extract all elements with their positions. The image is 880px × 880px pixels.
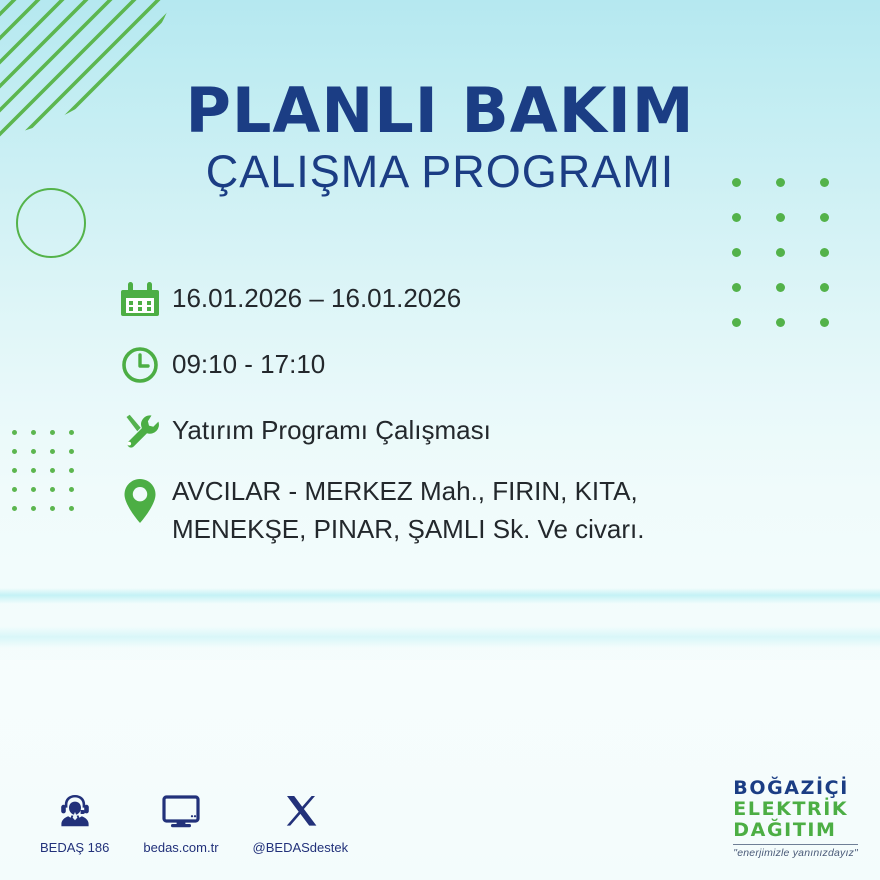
footer-label-call-center: BEDAŞ 186 [40,840,109,855]
x-twitter-icon [278,786,322,834]
logo-line-elektrik: ELEKTRİK [733,799,858,820]
work-type-text: Yatırım Programı Çalışması [172,404,491,450]
footer-item-website[interactable]: bedas.com.tr [143,786,218,855]
tools-icon [118,404,172,458]
planned-maintenance-poster: PLANLI BAKIM ÇALIŞMA PROGRAMI [0,0,880,880]
logo-line-dagitim: DAĞITIM [733,820,858,841]
info-row-address: AVCILAR - MERKEZ Mah., FIRIN, KITA, MENE… [118,470,818,548]
poster-header: PLANLI BAKIM ÇALIŞMA PROGRAMI [0,78,880,197]
monitor-icon [159,786,203,834]
page-subtitle: ÇALIŞMA PROGRAMI [0,147,880,197]
logo-tagline: "enerjimizle yanınızdayız" [733,844,858,859]
support-headset-icon [53,786,97,834]
page-title: PLANLI BAKIM [0,78,880,143]
wave-band-upper [0,588,880,604]
footer-label-x-account: @BEDASdestek [253,840,349,855]
wave-band-lower [0,626,880,648]
dot-grid-left-decoration [12,430,88,525]
address-text: AVCILAR - MERKEZ Mah., FIRIN, KITA, MENE… [172,470,644,548]
calendar-icon [118,272,172,326]
info-row-time: 09:10 - 17:10 [118,338,818,392]
logo-line-bogazici: BOĞAZİÇİ [733,778,858,799]
maintenance-info-block: 16.01.2026 – 16.01.2026 09:10 - 17:10 [118,272,818,560]
address-line-2: MENEKŞE, PINAR, ŞAMLI Sk. Ve civarı. [172,514,644,544]
circle-outline-decoration [16,188,86,258]
footer-label-website: bedas.com.tr [143,840,218,855]
info-row-date: 16.01.2026 – 16.01.2026 [118,272,818,326]
clock-icon [118,338,172,392]
bogazici-elektrik-dagitim-logo: BOĞAZİÇİ ELEKTRİK DAĞITIM "enerjimizle y… [733,778,858,859]
footer-contact-links: BEDAŞ 186 bedas.com.tr @BEDASdestek [40,786,382,855]
address-line-1: AVCILAR - MERKEZ Mah., FIRIN, KITA, [172,476,638,506]
footer-item-call-center[interactable]: BEDAŞ 186 [40,786,109,855]
time-range-text: 09:10 - 17:10 [172,338,325,384]
location-pin-icon [118,470,172,528]
footer-item-x-account[interactable]: @BEDASdestek [253,786,349,855]
date-range-text: 16.01.2026 – 16.01.2026 [172,272,461,318]
info-row-work-type: Yatırım Programı Çalışması [118,404,818,458]
